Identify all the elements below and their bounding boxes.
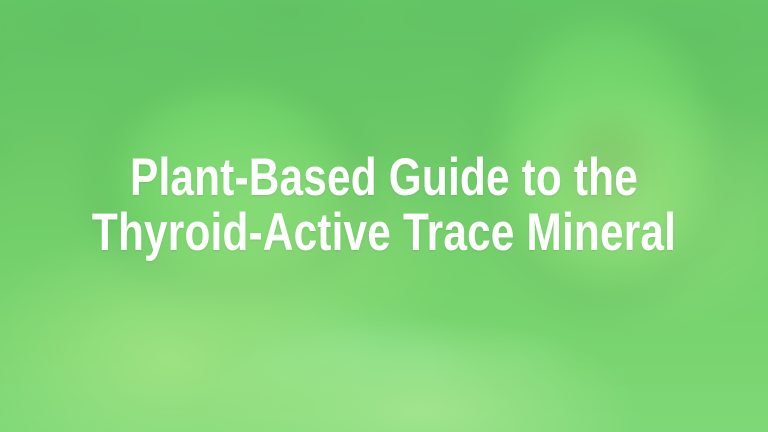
green-overlay xyxy=(0,0,768,432)
hero-banner: Plant-Based Guide to the Thyroid-Active … xyxy=(0,0,768,432)
